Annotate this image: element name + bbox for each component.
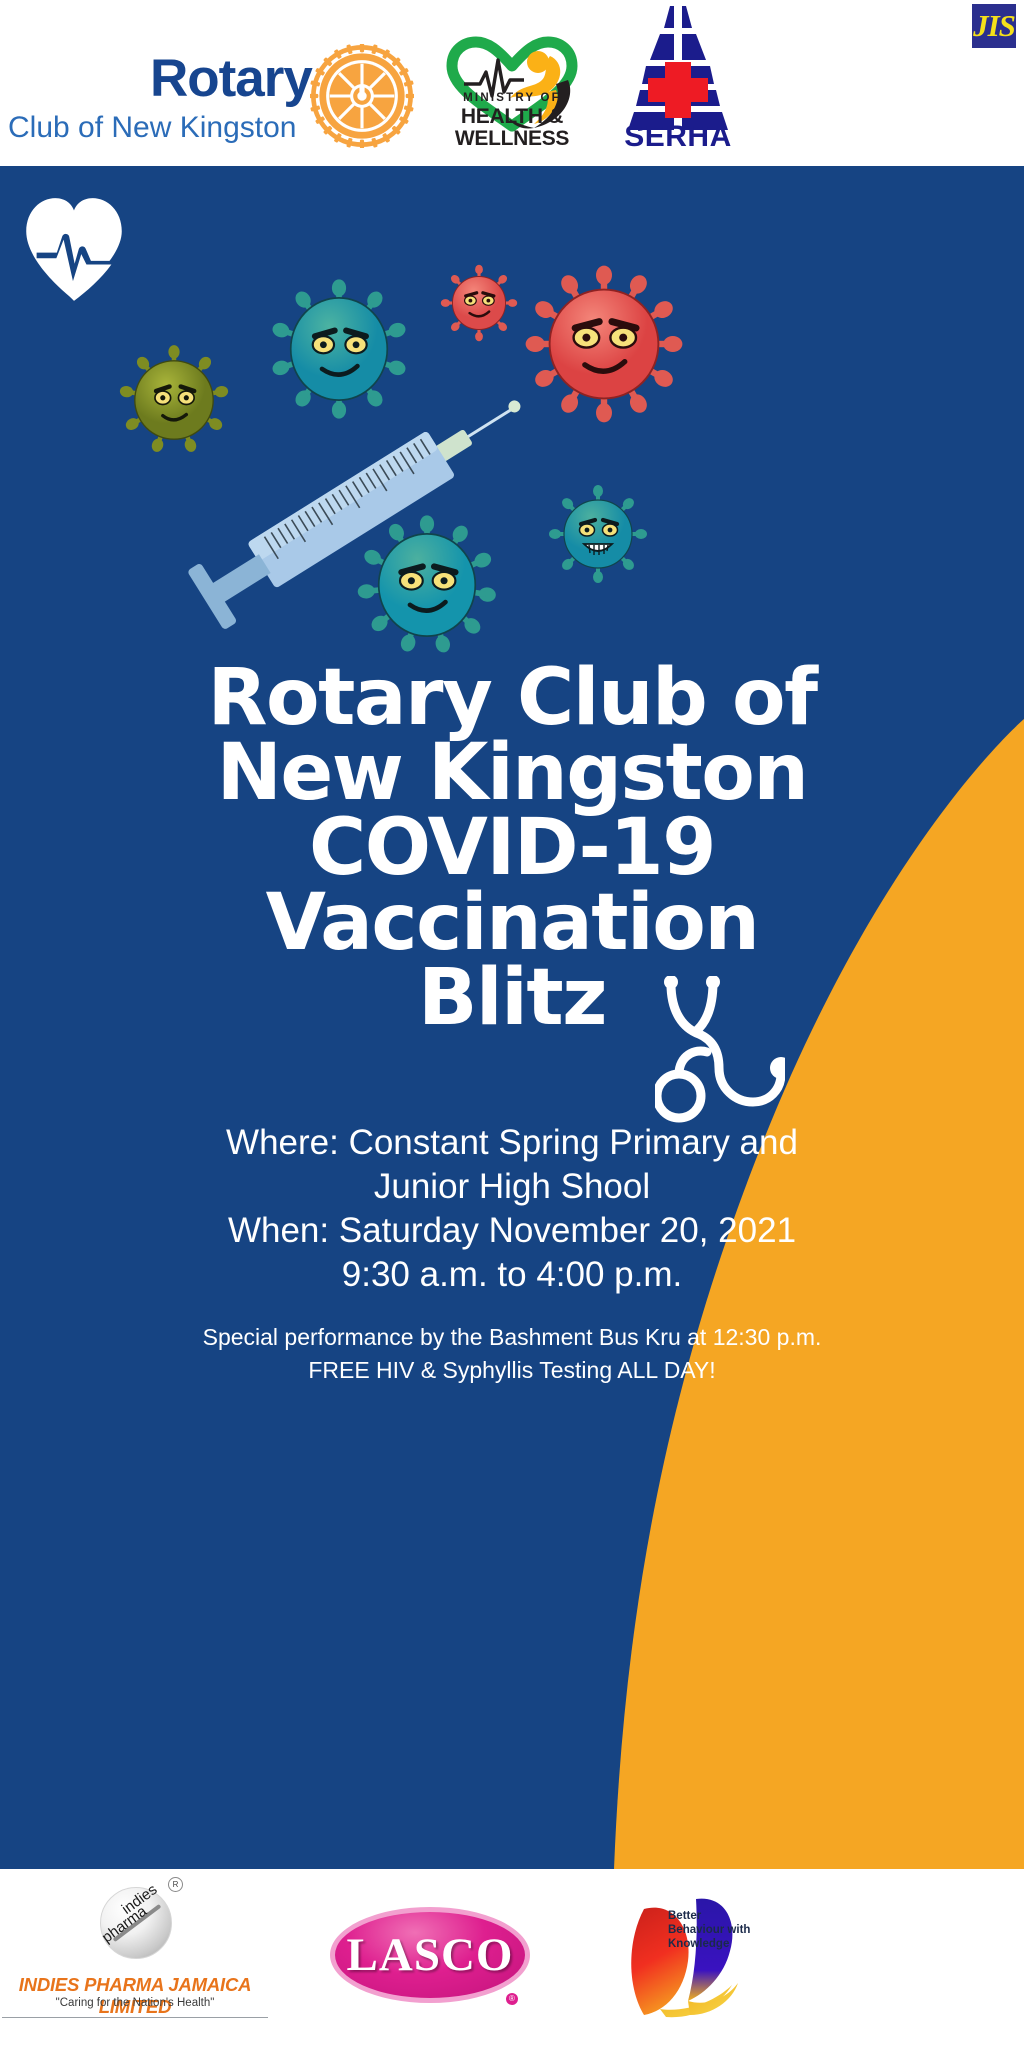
event-notes: Special performance by the Bashment Bus … (0, 1321, 1024, 1386)
event-details: Where: Constant Spring Primary and Junio… (0, 1121, 1024, 1297)
jis-logo-icon: JIS (972, 4, 1016, 48)
detail-when-time: 9:30 a.m. to 4:00 p.m. (45, 1253, 979, 1297)
title-line-3: COVID-19 (120, 811, 904, 886)
title-line-5: Blitz (120, 961, 904, 1036)
virus-red-large-icon (524, 264, 684, 424)
better-behaviour-line-1: Better (668, 1909, 798, 1923)
page-title: Rotary Club of New Kingston COVID-19 Vac… (0, 661, 1024, 1035)
virus-teal-small-icon (548, 484, 648, 584)
virus-teal-medium-icon (356, 514, 498, 656)
detail-where-line-2: Junior High Shool (45, 1165, 979, 1209)
poster-body: Rotary Club of New Kingston COVID-19 Vac… (0, 166, 1024, 1869)
ministry-line-3: WELLNESS (438, 127, 586, 151)
title-line-4: Vaccination (120, 886, 904, 961)
sponsor-footer: indies pharma R INDIES PHARMA JAMAICA LI… (0, 1869, 1024, 2048)
virus-red-small-icon (440, 264, 518, 342)
better-behaviour-line-2: Behaviour with (668, 1923, 798, 1937)
detail-when-date: When: Saturday November 20, 2021 (45, 1209, 979, 1253)
title-line-2: New Kingston (120, 736, 904, 811)
heartbeat-icon (22, 196, 126, 304)
ministry-line-1: MINISTRY OF (438, 92, 586, 104)
rotary-club-subtitle: Club of New Kingston (8, 113, 297, 143)
rotary-wheel-icon (310, 44, 414, 148)
title-line-1: Rotary Club of (120, 661, 904, 736)
sponsor-better-behaviour: Better Behaviour with Knowledge (0, 1869, 1024, 2048)
poster-root: Rotary Club of New Kingston (0, 0, 1024, 2048)
serha-label: SERHA (600, 120, 756, 154)
better-behaviour-line-3: Knowledge (668, 1937, 798, 1951)
rotary-wordmark: Rotary (150, 52, 312, 105)
jis-label: JIS (972, 4, 1016, 48)
virus-olive-icon (118, 344, 230, 456)
note-free-testing: FREE HIV & Syphyllis Testing ALL DAY! (0, 1354, 1024, 1387)
note-performance: Special performance by the Bashment Bus … (0, 1321, 1024, 1354)
detail-where-line-1: Where: Constant Spring Primary and (45, 1121, 979, 1165)
serha-pyramid-icon (608, 2, 748, 132)
virus-teal-large-icon (268, 278, 410, 420)
sponsor-header: Rotary Club of New Kingston (0, 0, 1024, 166)
ministry-line-2: HEALTH & (438, 105, 586, 129)
better-behaviour-name: Better Behaviour with Knowledge (668, 1909, 798, 1951)
